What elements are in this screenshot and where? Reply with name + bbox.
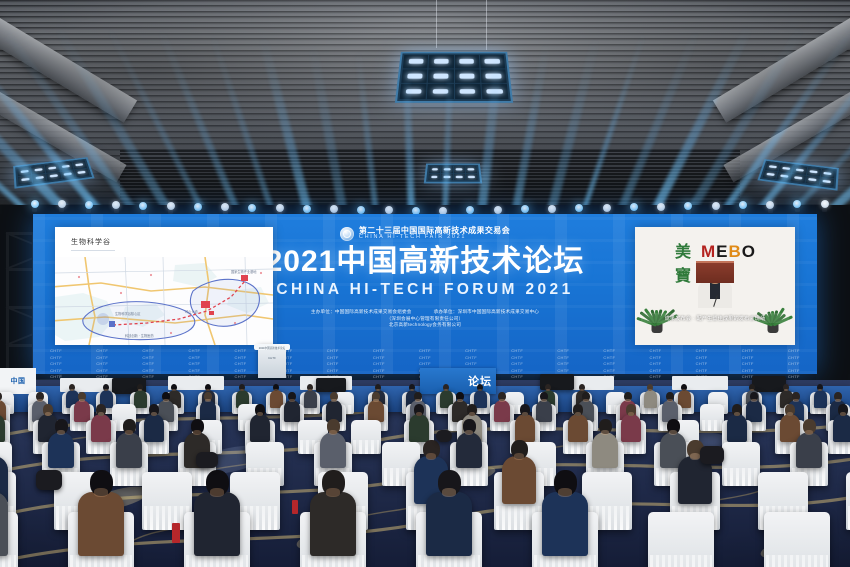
audience-member [814, 390, 827, 408]
moving-head-light [57, 200, 66, 212]
audience-face [787, 412, 793, 416]
audience-face [669, 430, 677, 435]
audience-head [103, 384, 110, 391]
audience-head [327, 419, 340, 434]
audience-head [273, 384, 280, 391]
audience-member [833, 414, 850, 442]
audience-face [442, 488, 457, 497]
organizer-credits: 主办单位：中国国际高新技术成果交易会组委会 承办单位：深圳市中国国际高新技术成果… [311, 309, 539, 330]
audience-member [536, 400, 552, 422]
audience-member [310, 492, 356, 556]
audience-head [438, 470, 461, 496]
map-svg: 国家生物产业基地 生物科学谷核心区 坪山大道 科技创新 · 生物医药 [55, 257, 273, 345]
audience-head [463, 419, 476, 434]
audience-member [91, 414, 111, 442]
audience-face [329, 430, 337, 435]
handbag [700, 446, 724, 464]
audience-face [465, 430, 473, 435]
audience-head [171, 384, 178, 391]
audience-head [55, 419, 68, 434]
forum-floor-sign: 论坛 [420, 368, 496, 394]
covered-chair [846, 472, 850, 530]
audience-face [793, 399, 798, 402]
audience-face [206, 389, 210, 391]
audience-face [444, 389, 448, 391]
map-diagram: 国家生物产业基地 生物科学谷核心区 坪山大道 科技创新 · 生物医药 [55, 257, 273, 345]
svg-text:坪山大道: 坪山大道 [185, 309, 199, 314]
audience-head [681, 384, 688, 391]
title-underline [71, 250, 115, 251]
audience-face [94, 488, 109, 497]
mebo-letter-o: O [742, 242, 755, 262]
moving-head-light [30, 200, 39, 212]
speaker-monitor-box [316, 378, 346, 392]
video-podium [696, 261, 734, 283]
moving-head-light [766, 201, 775, 213]
covered-chair [648, 512, 714, 567]
audience-head [191, 419, 204, 434]
audience-face [308, 389, 312, 391]
audience-head [624, 392, 632, 401]
forum-title-en: CHINA HI-TECH FORUM 2021 [276, 281, 573, 299]
audience-member [727, 414, 747, 442]
audience-head [540, 392, 548, 401]
audience-face [257, 412, 263, 416]
audience-face [193, 430, 201, 435]
audience-face [558, 488, 573, 497]
audience-member [304, 390, 317, 408]
recessed-grid-light-icon [424, 163, 482, 183]
audience-head [137, 384, 144, 391]
audience-face [0, 399, 1, 402]
audience-face [138, 389, 142, 391]
moving-head-light [112, 201, 121, 213]
audience-head [783, 384, 790, 391]
audience-head [149, 404, 159, 415]
audience-member [502, 456, 536, 504]
audience-head [255, 404, 265, 415]
audience-head [330, 392, 338, 401]
audience-face [79, 399, 84, 402]
audience-head [803, 419, 816, 434]
audience-face [331, 399, 336, 402]
audience-member [134, 390, 147, 408]
audience-face [151, 412, 157, 416]
audience-head [667, 419, 680, 434]
audience-face [373, 399, 378, 402]
audience-head [838, 404, 848, 415]
audience-member [621, 414, 641, 442]
audience-face [205, 399, 210, 402]
audience-member [0, 492, 8, 556]
audience-face [326, 488, 341, 497]
svg-text:生物科学谷核心区: 生物科学谷核心区 [115, 311, 141, 316]
forum-title-cn: 2021中国高新技术论坛 [266, 246, 585, 278]
audience-face [580, 389, 584, 391]
audience-face [818, 389, 822, 391]
audience-member [644, 390, 657, 408]
handbag [36, 470, 62, 490]
audience-head [372, 392, 380, 401]
audience-head [582, 392, 590, 401]
audience-face [426, 453, 437, 459]
audience-face [469, 412, 475, 416]
audience-head [647, 384, 654, 391]
audience-face [734, 412, 740, 416]
audience-head [322, 470, 345, 496]
led-video-wall: CHTFCHTFCHTFCHTFCHTFCHTFCHTFCHTFCHTFCHTF… [33, 214, 817, 374]
audience-head [554, 470, 577, 496]
audience-head [43, 404, 53, 415]
moving-head-light [166, 202, 175, 214]
audience-head [206, 470, 229, 496]
audience-member [409, 414, 429, 442]
audience-head [749, 384, 756, 391]
audience-head [288, 392, 296, 401]
audience-face [104, 389, 108, 391]
moving-head-light [711, 202, 720, 214]
audience-face [289, 399, 294, 402]
globe-network-icon [340, 227, 354, 241]
audience-face [628, 412, 634, 416]
audience-head [96, 404, 106, 415]
audience-head [545, 384, 552, 391]
audience-face [70, 389, 74, 391]
audience-member [284, 400, 300, 422]
recessed-grid-light-icon [395, 52, 513, 103]
left-slide-title: 生物科学谷 [71, 237, 111, 247]
handbag [436, 430, 452, 442]
audience-face [240, 389, 244, 391]
audience-member [542, 492, 588, 556]
fair-logo-en: CHINA HI-TECH FAIR 2021 [359, 235, 510, 241]
audience-member [250, 414, 270, 442]
audience-head [443, 384, 450, 391]
audience-face [575, 412, 581, 416]
audience-face [125, 430, 133, 435]
audience-head [409, 384, 416, 391]
audience-face [163, 399, 168, 402]
organizer-line-4: 北京高新technology会务有限公司 [311, 322, 539, 329]
audience-member [74, 400, 90, 422]
audience-head [817, 384, 824, 391]
moving-head-light [139, 202, 148, 214]
audience-face [751, 399, 756, 402]
stage-right-dark-wing [816, 205, 850, 385]
audience-face [667, 399, 672, 402]
audience-head [573, 404, 583, 415]
audience-face [210, 488, 225, 497]
audience-head [579, 384, 586, 391]
audience-member [320, 432, 346, 468]
audience-head [239, 384, 246, 391]
audience-face [648, 389, 652, 391]
audience-face [690, 453, 701, 459]
stage-lectern: 2021中国高新技术论坛 CHTF [258, 344, 286, 378]
audience-head [123, 419, 136, 434]
audience-member [456, 432, 482, 468]
potted-plant-left [640, 287, 674, 333]
audience-head [467, 404, 477, 415]
watermark-row: CHTFCHTFCHTFCHTFCHTFCHTFCHTFCHTFCHTFCHTF… [33, 361, 817, 366]
audience-member [194, 492, 240, 556]
left-slide-panel: 生物科学谷 [55, 227, 273, 345]
audience-face [37, 399, 42, 402]
red-document [292, 500, 298, 514]
red-document [172, 523, 180, 543]
mebo-letter-e: E [716, 242, 727, 262]
audience-face [784, 389, 788, 391]
audience-member [494, 400, 510, 422]
covered-chair [351, 420, 381, 454]
audience-member [48, 432, 74, 468]
audience-head [69, 384, 76, 391]
audience-face [416, 412, 422, 416]
audience-face [682, 389, 686, 391]
audience-face [583, 399, 588, 402]
audience-head [520, 404, 530, 415]
audience-head [498, 392, 506, 401]
video-subtitle-bar: 成果发布会 · 配产生暨佳成果的发布会现场 [641, 313, 789, 323]
audience-head [750, 392, 758, 401]
audience-head [90, 470, 113, 496]
audience-member [592, 432, 618, 468]
left-banner-sign: 中国 [0, 368, 36, 394]
watermark-row: CHTFCHTFCHTFCHTFCHTFCHTFCHTFCHTFCHTFCHTF… [33, 355, 817, 360]
audience-face [457, 399, 462, 402]
covered-chair [700, 404, 724, 431]
audience-face [840, 412, 846, 416]
undertaker-organizer: 承办单位：深圳市中国国际高新技术成果交易中心 [434, 309, 539, 316]
audience-face [835, 399, 840, 402]
audience-face [499, 399, 504, 402]
video-subtitle-text: 成果发布会 · 配产生暨佳成果的发布会现场 [665, 315, 766, 322]
audience-face [805, 430, 813, 435]
right-video-panel: 美寶 M E B O 成果发布会 · 配产生暨佳成果的发布会现场 [635, 227, 795, 345]
conference-hall-photo: CHTFCHTFCHTFCHTFCHTFCHTFCHTFCHTFCHTFCHTF… [0, 0, 850, 567]
audience-face [98, 412, 104, 416]
audience-face [750, 389, 754, 391]
mebo-letter-b: B [728, 242, 740, 262]
speaker-shirt [710, 283, 720, 299]
audience-head [456, 392, 464, 401]
audience-head [414, 392, 422, 401]
audience-head [666, 392, 674, 401]
audience-face [601, 430, 609, 435]
potted-plant-right [756, 287, 790, 333]
audience-head [423, 440, 440, 459]
audience-face [274, 389, 278, 391]
ceiling-shading [0, 0, 850, 230]
light-hanger-rod [486, 0, 487, 50]
audience-face [541, 399, 546, 402]
audience-member [568, 414, 588, 442]
lectern-label-body: CHTF [268, 356, 276, 360]
audience-member [746, 400, 762, 422]
handbag [196, 452, 218, 468]
audience-face [45, 412, 51, 416]
audience-member [144, 414, 164, 442]
audience-head [375, 384, 382, 391]
audience-member [515, 414, 535, 442]
covered-chair [764, 512, 830, 567]
moving-head-light [84, 201, 93, 213]
audience-member [796, 432, 822, 468]
audience-member [426, 492, 472, 556]
audience-head [78, 392, 86, 401]
audience-head [732, 404, 742, 415]
covered-chair [722, 442, 760, 486]
lectern-label-top: 2021中国高新技术论坛 [259, 346, 286, 350]
audience-head [205, 384, 212, 391]
moving-head-light [793, 200, 802, 212]
audience-head [0, 392, 2, 401]
light-hanger-rod [436, 0, 437, 48]
audience-member [368, 400, 384, 422]
audience-face [546, 389, 550, 391]
audience-member [116, 432, 142, 468]
audience-head [307, 384, 314, 391]
audience-face [376, 389, 380, 391]
svg-text:国家生物产业基地: 国家生物产业基地 [231, 269, 257, 274]
audience-face [478, 389, 482, 391]
moving-head-light [738, 201, 747, 213]
speaker-monitor-box [752, 376, 786, 392]
svg-text:科技创新 · 生物医药: 科技创新 · 生物医药 [125, 333, 154, 338]
audience-face [172, 389, 176, 391]
audience-member [200, 400, 216, 422]
audience-face [57, 430, 65, 435]
host-organizer: 主办单位：中国国际高新技术成果交易会组委会 [311, 309, 412, 316]
audience-member [78, 492, 124, 556]
watermark-row: CHTFCHTFCHTFCHTFCHTFCHTFCHTFCHTFCHTFCHTF… [33, 348, 817, 353]
audience-head [477, 384, 484, 391]
audience-head [785, 404, 795, 415]
audience-head [36, 392, 44, 401]
audience-face [410, 389, 414, 391]
audience-head [626, 404, 636, 415]
moving-head-light [820, 200, 829, 212]
audience-head [599, 419, 612, 434]
audience-head [204, 392, 212, 401]
audience-face [514, 453, 525, 459]
ceiling [0, 0, 850, 230]
moving-head-light [684, 202, 693, 214]
audience-head [414, 404, 424, 415]
audience-head [162, 392, 170, 401]
audience-face [625, 399, 630, 402]
audience-head [834, 392, 842, 401]
audience-head [511, 440, 528, 459]
mebo-letter-m: M [701, 242, 715, 262]
audience-face [522, 412, 528, 416]
audience-face [415, 399, 420, 402]
audience-head [792, 392, 800, 401]
fair-logo: 第二十三届中国国际高新技术成果交易会 CHINA HI-TECH FAIR 20… [340, 227, 510, 241]
